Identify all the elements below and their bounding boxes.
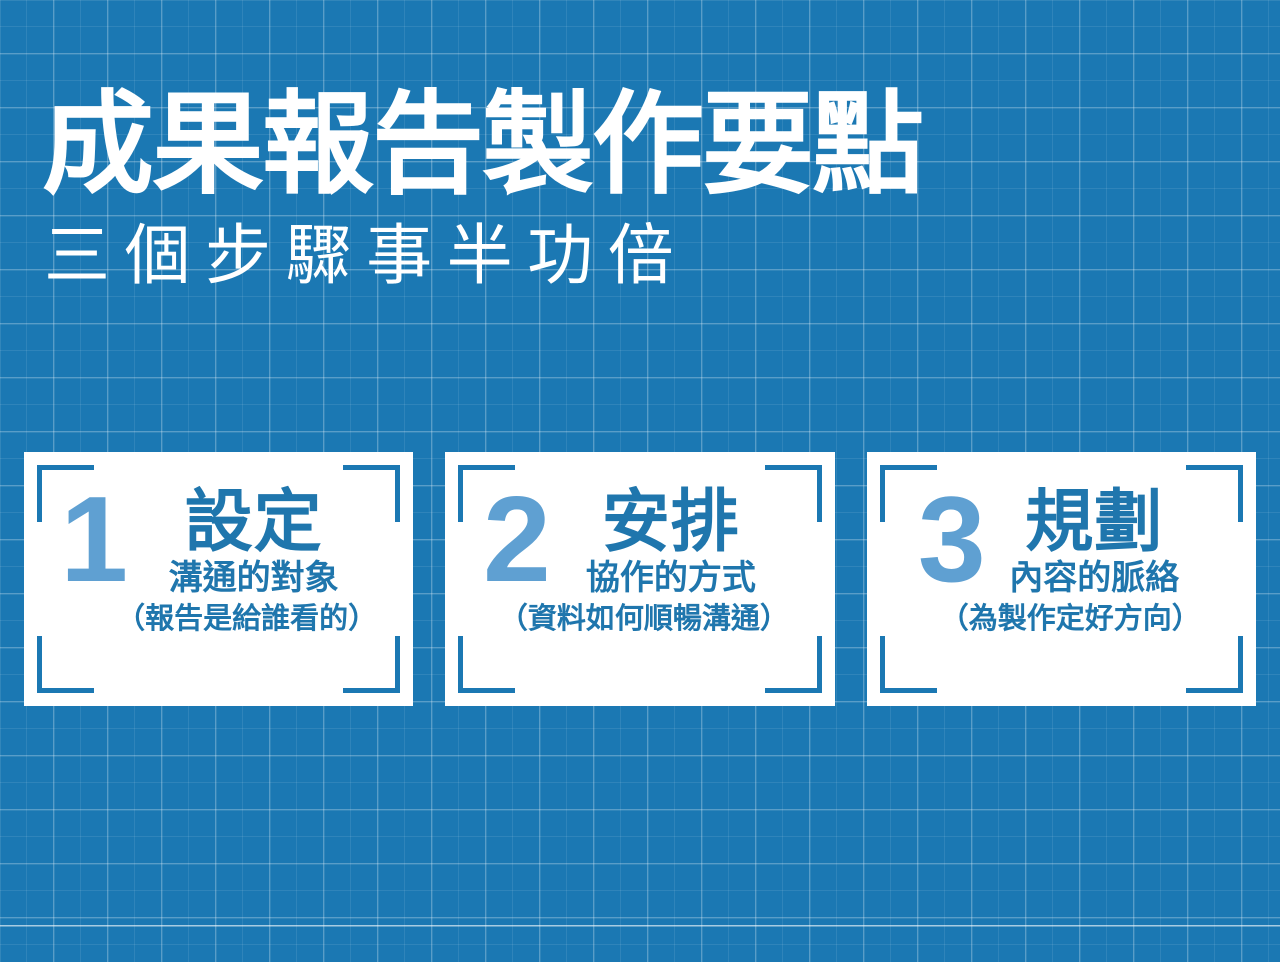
step-card-3-text: 規劃 內容的脈絡 （為製作定好方向） [988,486,1201,636]
step-card-2-content: 2 安排 協作的方式 （資料如何順暢溝通） [483,486,789,636]
steps-card-row: 1 設定 溝通的對象 （報告是給誰看的） 2 安排 協作的方式 （資料如何順暢溝… [24,452,1256,706]
step-subheading-3: 內容的脈絡 [1009,558,1179,598]
step-number-3: 3 [918,486,982,593]
corner-bracket-bottom-left-icon [37,636,94,693]
corner-bracket-bottom-left-icon [458,636,515,693]
corner-bracket-bottom-right-icon [343,636,400,693]
step-heading-3: 規劃 [1025,488,1163,556]
step-card-1[interactable]: 1 設定 溝通的對象 （報告是給誰看的） [24,452,413,706]
page-subtitle: 三個步驟事半功倍 [44,220,922,291]
corner-bracket-bottom-right-icon [1186,636,1243,693]
step-heading-2: 安排 [602,488,740,556]
corner-bracket-bottom-left-icon [880,636,937,693]
step-subheading-2: 協作的方式 [586,558,756,598]
step-subheading-1: 溝通的對象 [169,558,339,598]
step-number-2: 2 [483,486,547,593]
step-card-3-content: 3 規劃 內容的脈絡 （為製作定好方向） [918,486,1201,636]
step-card-3[interactable]: 3 規劃 內容的脈絡 （為製作定好方向） [867,452,1256,706]
step-note-3: （為製作定好方向） [940,602,1201,636]
step-heading-1: 設定 [185,488,323,556]
step-number-1: 1 [60,486,124,593]
step-card-2-text: 安排 協作的方式 （資料如何順暢溝通） [553,486,789,636]
step-card-2[interactable]: 2 安排 協作的方式 （資料如何順暢溝通） [445,452,834,706]
step-note-2: （資料如何順暢溝通） [499,602,789,636]
page-title: 成果報告製作要點 [42,86,922,204]
corner-bracket-bottom-right-icon [765,636,822,693]
step-card-1-content: 1 設定 溝通的對象 （報告是給誰看的） [60,486,377,636]
step-note-1: （報告是給誰看的） [116,602,377,636]
slide-canvas: 成果報告製作要點 三個步驟事半功倍 1 設定 溝通的對象 （報告是給誰看的） [0,0,1280,962]
step-card-1-text: 設定 溝通的對象 （報告是給誰看的） [130,486,377,636]
header-block: 成果報告製作要點 三個步驟事半功倍 [42,86,922,291]
